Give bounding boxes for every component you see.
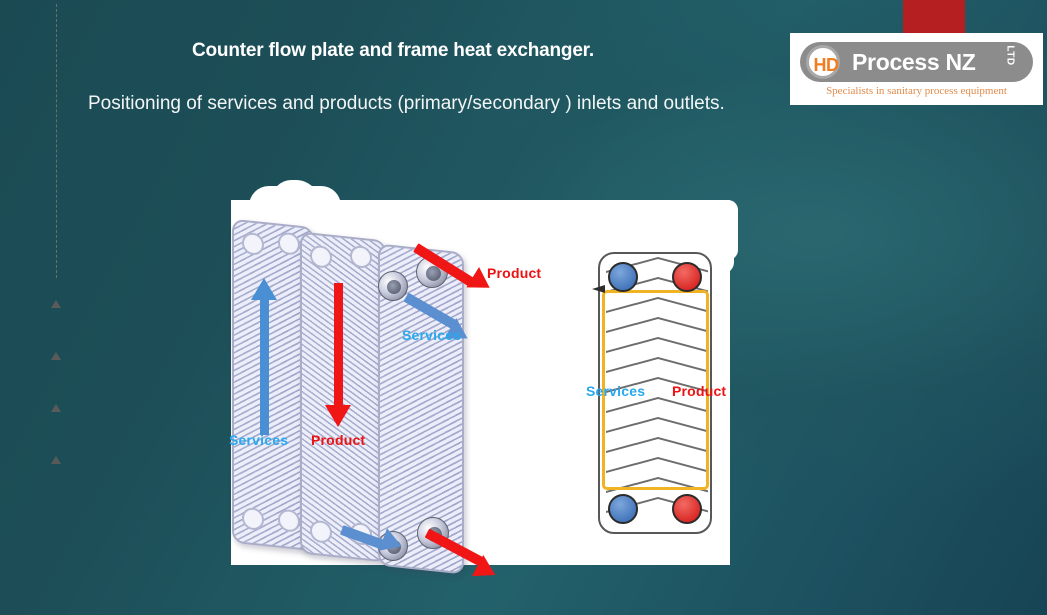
- logo-wordmark: Process NZ: [852, 42, 976, 82]
- heat-exchanger-plate: [300, 231, 386, 562]
- label-product-nozzle: Product: [487, 265, 541, 281]
- plate-port: [242, 232, 264, 256]
- plate-port: [278, 509, 300, 533]
- logo-suffix: LTD: [1004, 45, 1015, 65]
- port-bottom-right-product: [672, 494, 702, 524]
- product-flow-arrow-shaft: [334, 283, 343, 411]
- port-top-left-services: [608, 262, 638, 292]
- plate-port: [310, 520, 332, 544]
- flow-direction-tick: [51, 300, 61, 308]
- plate-port: [350, 245, 372, 269]
- company-logo: HD Process NZ LTD Specialists in sanitar…: [790, 33, 1043, 105]
- port-top-right-product: [672, 262, 702, 292]
- services-flow-arrow-shaft: [260, 295, 269, 435]
- label-services-schematic: Services: [586, 383, 645, 399]
- product-flow-arrow-head: [325, 405, 351, 427]
- plate-port: [310, 245, 332, 269]
- accent-bar: [903, 0, 965, 33]
- slide-canvas: HD Process NZ LTD Specialists in sanitar…: [0, 0, 1047, 615]
- logo-pill-shape: HD Process NZ LTD: [800, 42, 1033, 82]
- slide-title: Counter flow plate and frame heat exchan…: [192, 40, 594, 62]
- slide-subtitle: Positioning of services and products (pr…: [88, 90, 788, 117]
- logo-tagline: Specialists in sanitary process equipmen…: [790, 85, 1043, 97]
- nozzle-bore: [387, 280, 401, 294]
- plate-centerline: [56, 4, 57, 278]
- label-services-plate1: Services: [229, 432, 288, 448]
- nozzle-services-inlet: [378, 271, 408, 301]
- label-product-schematic: Product: [672, 383, 726, 399]
- flow-direction-tick: [51, 404, 61, 412]
- flow-direction-tick: [51, 352, 61, 360]
- plate-port: [242, 507, 264, 531]
- services-flow-arrow-head: [251, 278, 277, 300]
- flow-direction-tick: [51, 456, 61, 464]
- logo-circle-badge: HD: [806, 45, 840, 79]
- port-bottom-left-services: [608, 494, 638, 524]
- label-services-nozzle: Services: [402, 327, 461, 343]
- plate-port: [278, 232, 300, 256]
- label-product-plate2: Product: [311, 432, 365, 448]
- logo-monogram: HD: [809, 48, 843, 82]
